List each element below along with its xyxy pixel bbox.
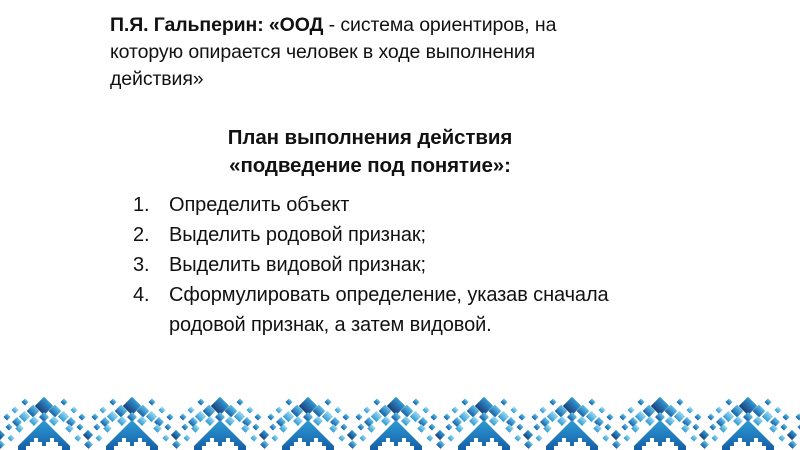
list-item: 4. Сформулировать определение, указав сн…	[133, 280, 673, 340]
section-heading: План выполнения действия «подведение под…	[120, 124, 620, 180]
list-item: 2. Выделить родовой признак;	[133, 220, 673, 250]
list-item-text: Определить объект	[169, 190, 673, 220]
list-item-text: Сформулировать определение, указав снача…	[169, 280, 673, 340]
list-item-number: 3.	[133, 250, 169, 280]
quote-bold-part: П.Я. Гальперин: «ООД	[110, 14, 323, 36]
list-item: 3. Выделить видовой признак;	[133, 250, 673, 280]
ornamental-border	[0, 390, 800, 450]
quote-text: П.Я. Гальперин: «ООД - система ориентиро…	[110, 12, 580, 93]
slide-canvas: П.Я. Гальперин: «ООД - система ориентиро…	[0, 0, 800, 450]
diamond-border-icon	[0, 390, 800, 450]
list-item-number: 1.	[133, 190, 169, 220]
ordered-list: 1. Определить объект 2. Выделить родовой…	[133, 190, 673, 340]
section-heading-line-1: План выполнения действия	[120, 124, 620, 152]
list-item-text: Выделить видовой признак;	[169, 250, 673, 280]
list-item-number: 4.	[133, 280, 169, 310]
section-heading-line-2: «подведение под понятие»:	[120, 152, 620, 180]
list-item-number: 2.	[133, 220, 169, 250]
list-item: 1. Определить объект	[133, 190, 673, 220]
list-item-text: Выделить родовой признак;	[169, 220, 673, 250]
